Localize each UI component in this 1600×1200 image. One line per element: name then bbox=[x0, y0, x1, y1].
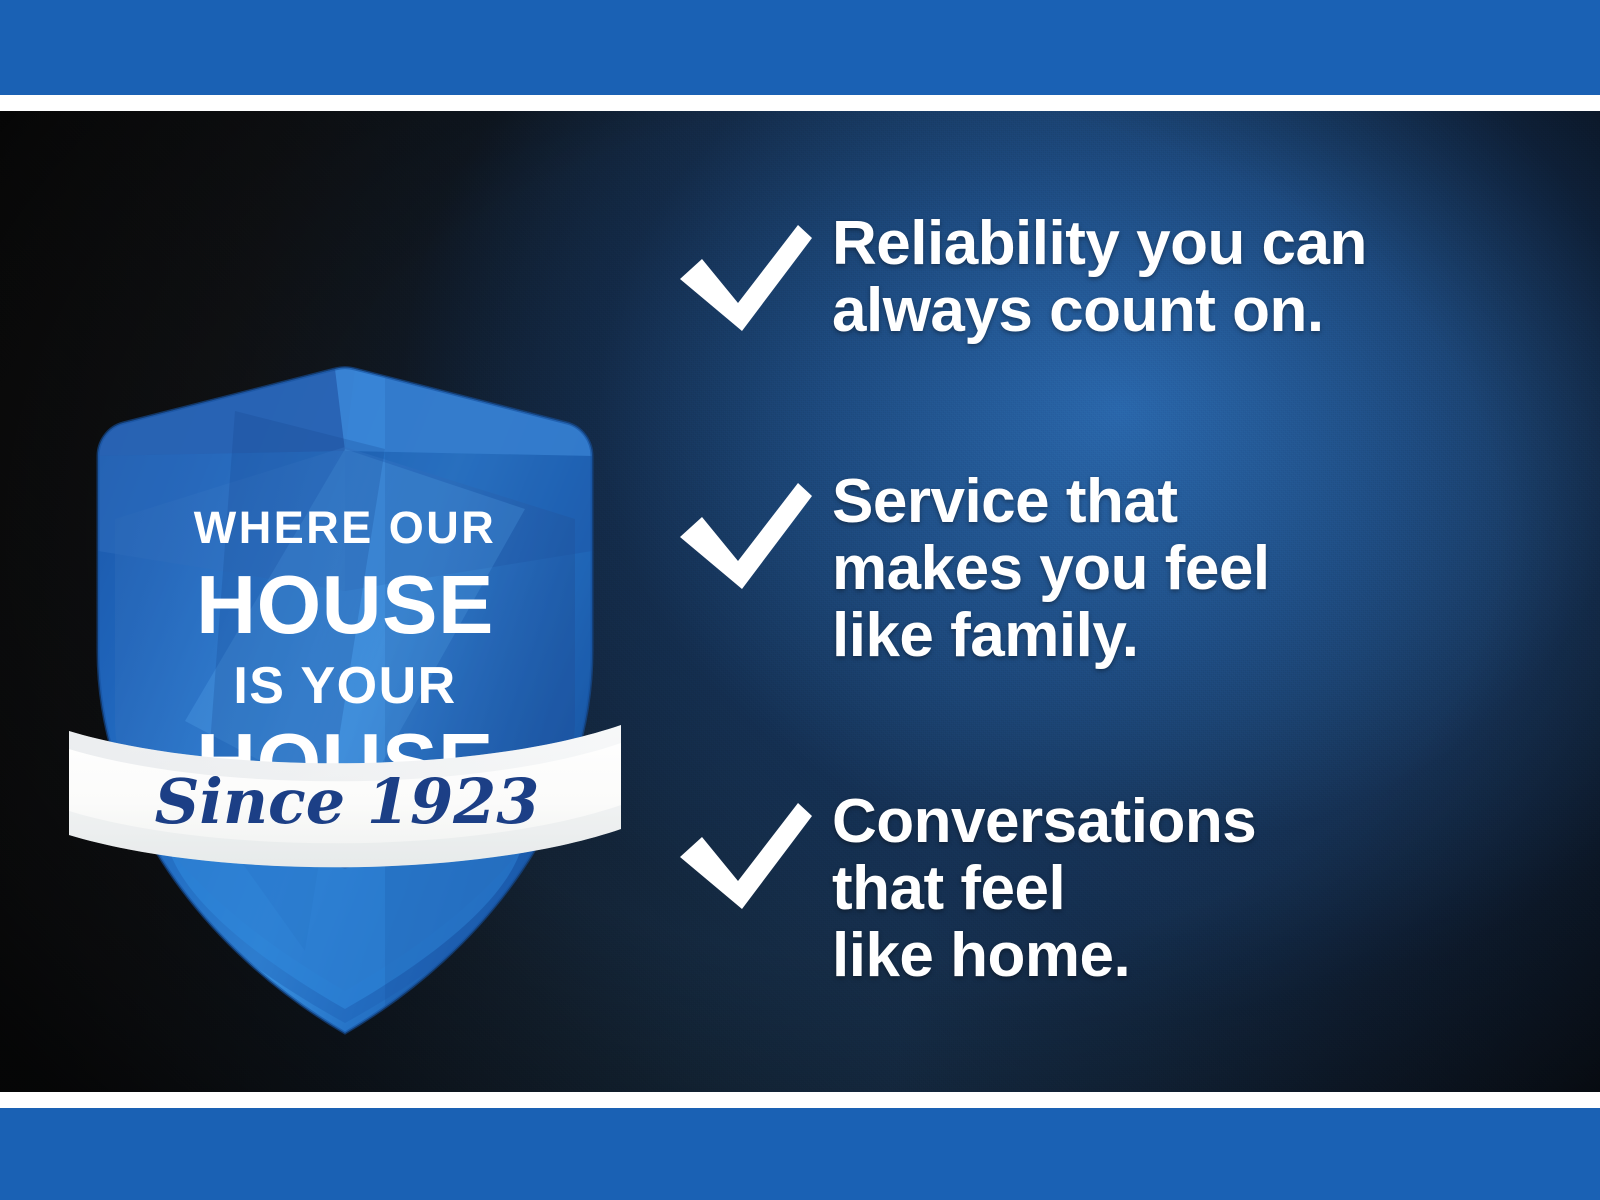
bottom-white-divider bbox=[0, 1092, 1600, 1108]
shield-tagline-line-1: WHERE OUR bbox=[194, 502, 497, 553]
list-item: Service that makes you feel like family. bbox=[672, 469, 1270, 670]
list-item: Reliability you can always count on. bbox=[672, 211, 1367, 345]
list-item-text: Conversations that feel like home. bbox=[832, 789, 1256, 990]
main-stage: WHERE OUR HOUSE IS YOUR HOUSE Since 1923 bbox=[0, 111, 1600, 1092]
check-icon bbox=[672, 795, 817, 910]
shield-tagline-line-3: IS YOUR bbox=[233, 657, 456, 715]
check-icon-wrapper bbox=[672, 469, 832, 590]
top-white-divider bbox=[0, 95, 1600, 111]
top-brand-bar bbox=[0, 0, 1600, 95]
list-item-text: Reliability you can always count on. bbox=[832, 211, 1367, 345]
list-item: Conversations that feel like home. bbox=[672, 789, 1256, 990]
shield-since-text: Since 1923 bbox=[155, 765, 540, 838]
list-item-text: Service that makes you feel like family. bbox=[832, 469, 1270, 670]
bottom-brand-bar bbox=[0, 1108, 1600, 1200]
check-icon bbox=[672, 217, 817, 332]
promo-graphic-canvas: WHERE OUR HOUSE IS YOUR HOUSE Since 1923 bbox=[0, 0, 1600, 1200]
shield-tagline-line-2: HOUSE bbox=[196, 558, 494, 651]
check-icon bbox=[672, 475, 817, 590]
check-icon-wrapper bbox=[672, 789, 832, 910]
check-icon-wrapper bbox=[672, 211, 832, 332]
shield-emblem: WHERE OUR HOUSE IS YOUR HOUSE Since 1923 bbox=[55, 251, 635, 1051]
